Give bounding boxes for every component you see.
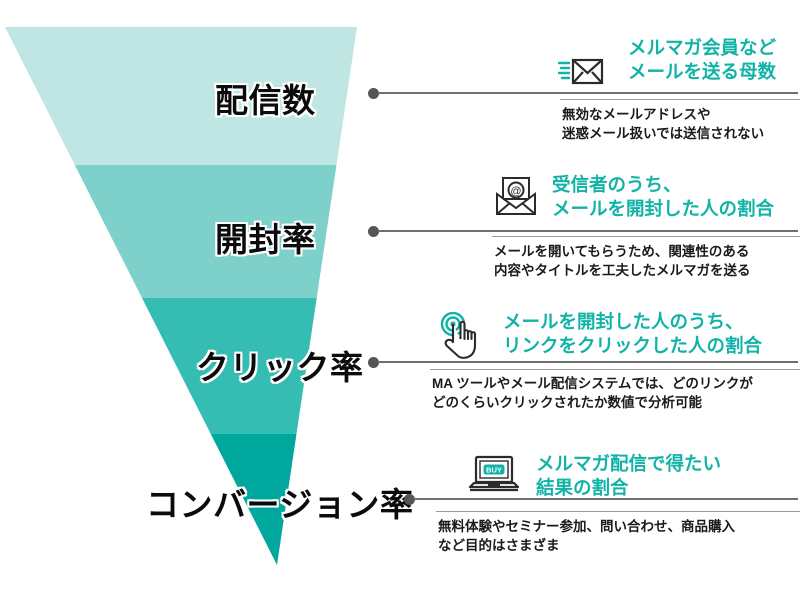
stage-note-2: メールを開いてもらうため、関連性のある 内容やタイトルを工夫したメルマガを送る bbox=[494, 242, 751, 280]
annotation-divider-3 bbox=[430, 369, 800, 370]
stage-note-1: 無効なメールアドレスや 迷惑メール扱いでは送信されない bbox=[562, 105, 764, 143]
note-line: MA ツールやメール配信システムでは、どのリンクが bbox=[432, 374, 753, 393]
annotation-divider-2 bbox=[492, 236, 800, 237]
funnel-diagram: 配信数 開封率 クリック率 コンバージョン率 メルマガ会員など メールを送る bbox=[0, 0, 800, 590]
stage-label-text: クリック率 bbox=[196, 349, 364, 386]
note-line: どのくらいクリックされたか数値で分析可能 bbox=[432, 393, 753, 412]
stage-headline-1: メルマガ会員など メールを送る母数 bbox=[628, 36, 776, 84]
note-line: メールを開いてもらうため、関連性のある bbox=[494, 242, 751, 261]
stage-headline-3: メールを開封した人のうち、 リンクをクリックした人の割合 bbox=[503, 310, 762, 358]
headline-line: メルマガ配信で得たい bbox=[536, 452, 721, 476]
headline-line: メールを送る母数 bbox=[628, 60, 776, 84]
stage-headline-2: 受信者のうち、 メールを開封した人の割合 bbox=[552, 173, 774, 221]
connector-line-3 bbox=[378, 361, 798, 363]
funnel-stage-label-4: コンバージョン率 bbox=[146, 478, 413, 526]
headline-line: リンクをクリックした人の割合 bbox=[503, 334, 762, 358]
stage-label-text: コンバージョン率 bbox=[146, 486, 413, 523]
funnel-stage-label-2: 開封率 bbox=[215, 213, 316, 261]
envelope-send-icon bbox=[558, 53, 604, 91]
stage-note-4: 無料体験やセミナー参加、問い合わせ、商品購入 など目的はさまざま bbox=[438, 517, 735, 555]
headline-line: 結果の割合 bbox=[536, 476, 721, 500]
stage-note-3: MA ツールやメール配信システムでは、どのリンクが どのくらいクリックされたか数… bbox=[432, 374, 753, 412]
headline-line: 受信者のうち、 bbox=[552, 173, 774, 197]
note-line: 迷惑メール扱いでは送信されない bbox=[562, 124, 764, 143]
stage-headline-4: メルマガ配信で得たい 結果の割合 bbox=[536, 452, 721, 500]
headline-line: メールを開封した人のうち、 bbox=[503, 310, 762, 334]
note-line: 無料体験やセミナー参加、問い合わせ、商品購入 bbox=[438, 517, 735, 536]
annotation-divider-4 bbox=[436, 511, 800, 512]
note-line: 内容やタイトルを工夫したメルマガを送る bbox=[494, 261, 751, 280]
note-line: 無効なメールアドレスや bbox=[562, 105, 764, 124]
connector-line-2 bbox=[378, 230, 798, 232]
annotation-divider-1 bbox=[560, 99, 800, 100]
funnel-stage-label-1: 配信数 bbox=[215, 74, 316, 122]
laptop-buy-label: BUY bbox=[486, 465, 502, 474]
svg-text:@: @ bbox=[510, 186, 521, 198]
note-line: など目的はさまざま bbox=[438, 536, 735, 555]
laptop-buy-icon: BUY bbox=[468, 454, 520, 496]
click-hand-icon bbox=[438, 312, 490, 360]
funnel-stage-label-3: クリック率 bbox=[196, 341, 364, 389]
stage-label-text: 配信数 bbox=[215, 82, 316, 119]
headline-line: メールを開封した人の割合 bbox=[552, 197, 774, 221]
headline-line: メルマガ会員など bbox=[628, 36, 776, 60]
envelope-open-at-icon: @ bbox=[494, 176, 538, 218]
connector-line-1 bbox=[378, 92, 798, 94]
stage-label-text: 開封率 bbox=[215, 221, 316, 258]
funnel-band-1 bbox=[0, 27, 420, 165]
funnel-band-2 bbox=[0, 165, 420, 298]
